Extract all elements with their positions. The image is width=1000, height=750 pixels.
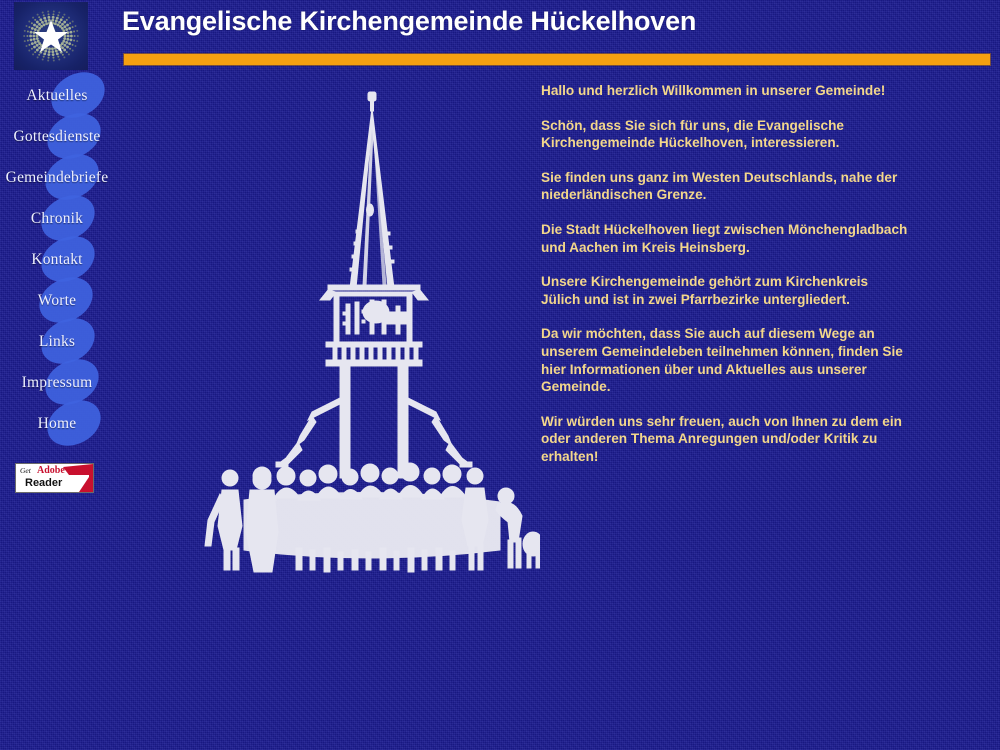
welcome-paragraph: Hallo und herzlich Willkommen in unserer… bbox=[541, 82, 911, 100]
adobe-reader-label: Reader bbox=[25, 477, 62, 489]
welcome-paragraph: Da wir möchten, dass Sie auch auf diesem… bbox=[541, 325, 911, 395]
sidebar-item-label: Aktuelles bbox=[0, 87, 114, 105]
welcome-paragraph: Die Stadt Hückelhoven liegt zwischen Mön… bbox=[541, 221, 911, 256]
site-logo[interactable] bbox=[14, 2, 88, 70]
church-steeple-and-congregation-artwork bbox=[200, 80, 540, 600]
sidebar-item-gemeindebriefe[interactable]: Gemeindebriefe bbox=[0, 160, 116, 201]
star-burst-logo-icon bbox=[14, 2, 88, 70]
sidebar-item-label: Home bbox=[0, 415, 114, 433]
sidebar-item-label: Impressum bbox=[0, 374, 114, 392]
sidebar-item-aktuelles[interactable]: Aktuelles bbox=[0, 78, 116, 119]
sidebar-item-label: Gottesdienste bbox=[0, 128, 114, 146]
get-adobe-reader-badge[interactable]: Get Adobe Reader bbox=[15, 463, 94, 493]
adobe-brand-label: Adobe bbox=[37, 465, 65, 476]
church-steeple-illustration bbox=[200, 80, 540, 600]
header-accent-rule bbox=[124, 54, 990, 65]
welcome-paragraph: Sie finden uns ganz im Westen Deutschlan… bbox=[541, 169, 911, 204]
welcome-paragraph: Wir würden uns sehr freuen, auch von Ihn… bbox=[541, 413, 911, 466]
sidebar-item-home[interactable]: Home bbox=[0, 406, 116, 447]
welcome-paragraph: Unsere Kirchengemeinde gehört zum Kirche… bbox=[541, 273, 911, 308]
sidebar-item-label: Chronik bbox=[0, 210, 114, 228]
welcome-text-block: Hallo und herzlich Willkommen in unserer… bbox=[541, 82, 911, 466]
adobe-get-label: Get bbox=[20, 466, 31, 475]
sidebar-item-label: Worte bbox=[0, 292, 114, 310]
sidebar-item-chronik[interactable]: Chronik bbox=[0, 201, 116, 242]
sidebar-item-label: Links bbox=[0, 333, 114, 351]
welcome-paragraph: Schön, dass Sie sich für uns, die Evange… bbox=[541, 117, 911, 152]
sidebar-item-gottesdienste[interactable]: Gottesdienste bbox=[0, 119, 116, 160]
sidebar-item-label: Gemeindebriefe bbox=[0, 169, 114, 187]
sidebar-item-impressum[interactable]: Impressum bbox=[0, 365, 116, 406]
main-navigation: Aktuelles Gottesdienste Gemeindebriefe C… bbox=[0, 78, 116, 447]
sidebar-item-worte[interactable]: Worte bbox=[0, 283, 116, 324]
sidebar-item-label: Kontakt bbox=[0, 251, 114, 269]
sidebar-item-kontakt[interactable]: Kontakt bbox=[0, 242, 116, 283]
sidebar-item-links[interactable]: Links bbox=[0, 324, 116, 365]
page-title: Evangelische Kirchengemeinde Hückelhoven bbox=[122, 6, 882, 37]
